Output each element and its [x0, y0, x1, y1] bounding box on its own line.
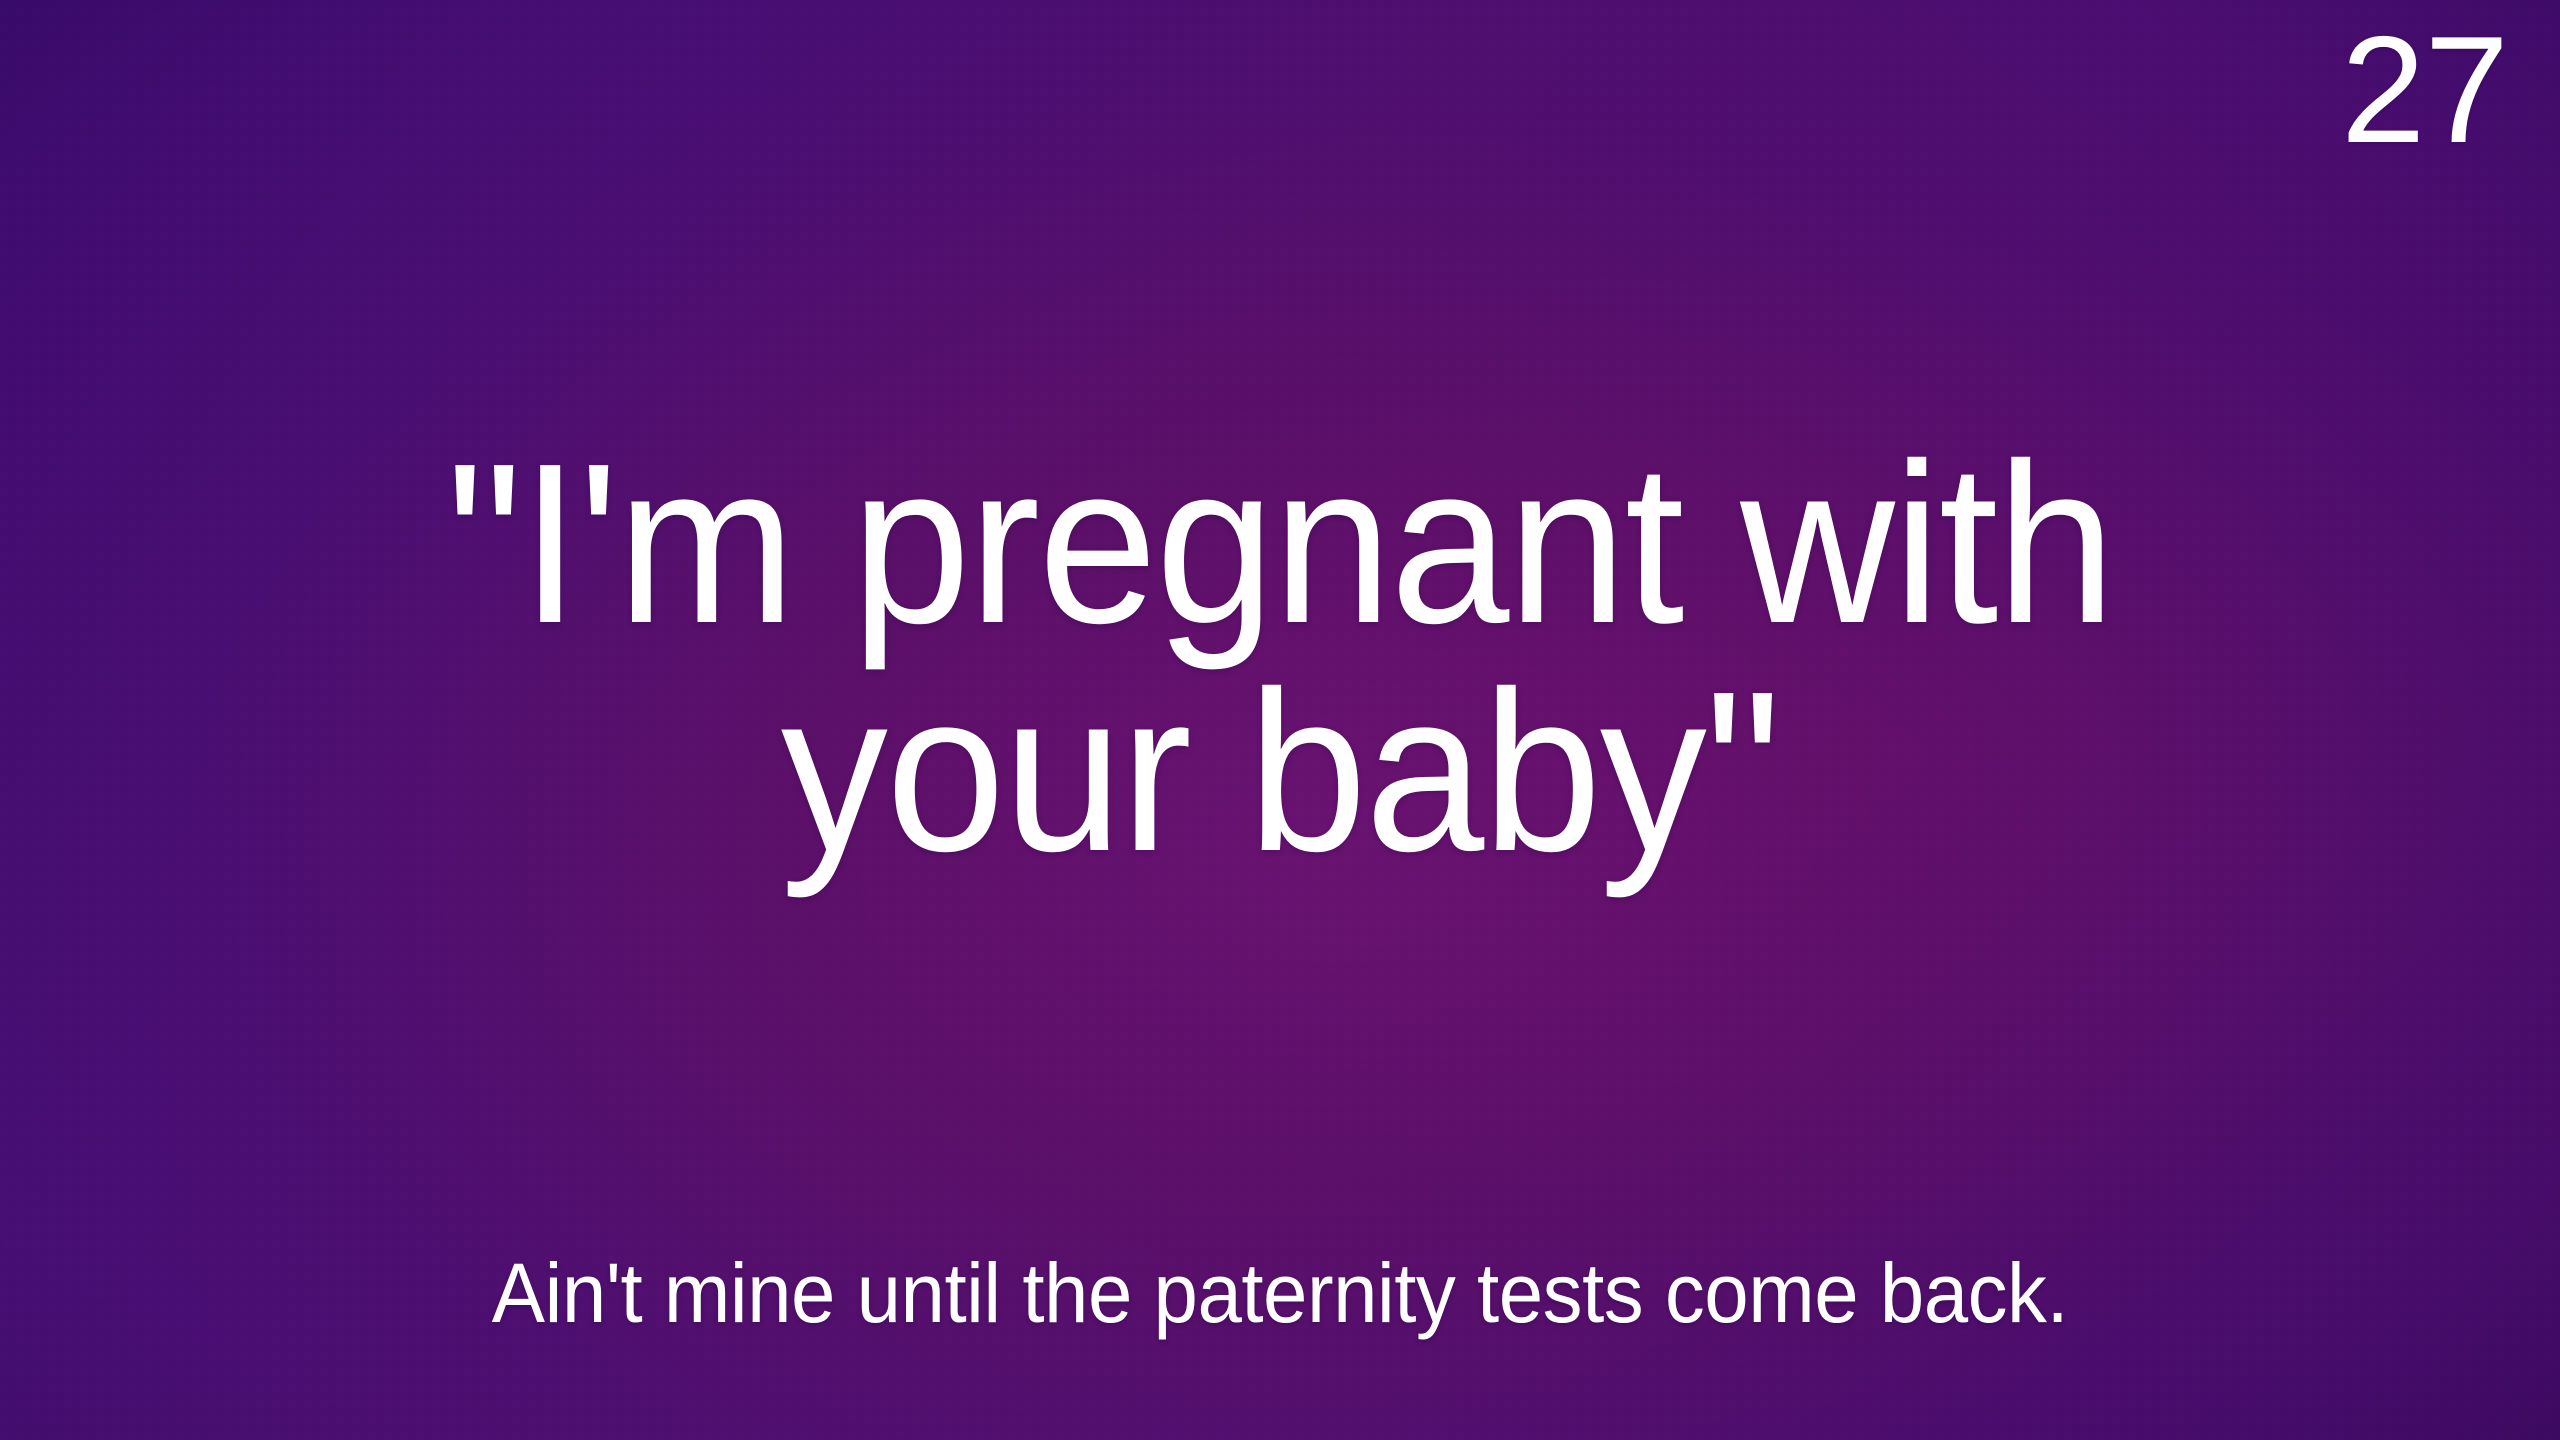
headline-line-1: "I'm pregnant with — [446, 430, 2114, 658]
headline-container: "I'm pregnant with your baby" — [0, 430, 2560, 886]
headline-line-2: your baby" — [446, 658, 2114, 886]
slide-counter: 27 — [2341, 14, 2508, 166]
quote-slide: 27 "I'm pregnant with your baby" Ain't m… — [0, 0, 2560, 1440]
subtitle-caption: Ain't mine until the paternity tests com… — [64, 1248, 2496, 1339]
headline-quote: "I'm pregnant with your baby" — [446, 430, 2114, 886]
